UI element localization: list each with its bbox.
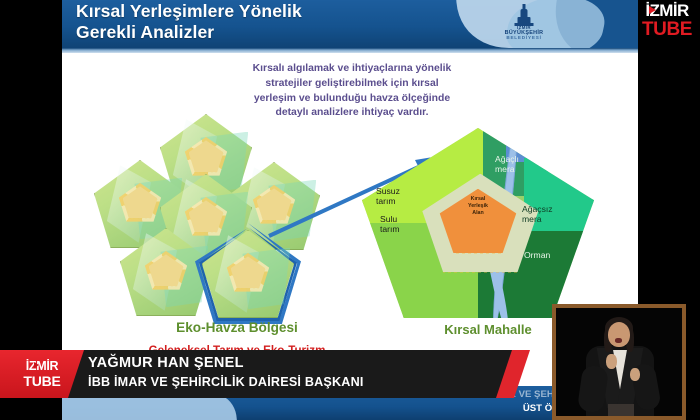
label-agacli-mera: Ağaçlı mera bbox=[495, 154, 519, 174]
izmirtube-tube-text: TUBE bbox=[638, 20, 696, 39]
slide-header: Kırsal Yerleşimlere Yönelik Gerekli Anal… bbox=[62, 0, 638, 48]
label-line2: tarım bbox=[380, 224, 400, 234]
lower-third-caption: YAĞMUR HAN ŞENEL İBB İMAR VE ŞEHİRCİLİK … bbox=[62, 350, 514, 398]
core-label-line3: Alan bbox=[440, 210, 517, 217]
izmirtube-izmir-text: İZMİR bbox=[638, 2, 696, 19]
intro-line1: Kırsalı algılamak ve ihtiyaçlarına yönel… bbox=[192, 62, 512, 77]
intro-line3: yerleşim ve bulunduğu havza ölçeğinde bbox=[192, 92, 512, 107]
speaker-role: İBB İMAR VE ŞEHİRCİLİK DAİRESİ BAŞKANI bbox=[88, 375, 364, 389]
speaker-name: YAĞMUR HAN ŞENEL bbox=[88, 355, 244, 371]
label-line1: Ağaçlı bbox=[495, 154, 519, 164]
logo-line-belediyesi: BELEDİYESİ bbox=[492, 36, 556, 41]
label-sulu-tarim: Sulu tarım bbox=[380, 214, 400, 234]
clock-tower-icon bbox=[492, 4, 556, 26]
speaker-picture-in-picture[interactable] bbox=[552, 304, 686, 420]
label-line2: tarım bbox=[376, 196, 400, 206]
core-label-line1: Kırsal bbox=[440, 196, 517, 203]
intro-paragraph: Kırsalı algılamak ve ihtiyaçlarına yönel… bbox=[192, 62, 512, 121]
label-line1: Orman bbox=[524, 250, 550, 260]
play-triangle-icon bbox=[649, 6, 656, 14]
label-line1: Susuz bbox=[376, 186, 400, 196]
cluster-pentagon bbox=[120, 228, 212, 316]
izmirtube-logo-topright[interactable]: İZMİR TUBE bbox=[638, 2, 696, 48]
core-label: Kırsal Yerleşik Alan bbox=[440, 196, 517, 216]
label-agacsiz-mera: Ağaçsız mera bbox=[522, 204, 553, 224]
label-line2: mera bbox=[495, 164, 519, 174]
speaker-hand-left bbox=[606, 354, 617, 369]
play-triangle-icon bbox=[34, 362, 39, 368]
core-label-line2: Yerleşik bbox=[440, 203, 517, 210]
label-susuz-tarim: Susuz tarım bbox=[376, 186, 400, 206]
izmir-buyuksehir-belediyesi-logo: İZMİR BÜYÜKŞEHİR BELEDİYESİ bbox=[492, 4, 556, 46]
speaker-mouth bbox=[615, 338, 622, 343]
speaker-belt bbox=[608, 404, 634, 418]
slide-title-line2: Gerekli Analizler bbox=[76, 22, 436, 43]
slide-title-line1: Kırsal Yerleşimlere Yönelik bbox=[76, 1, 436, 22]
cluster-pentagon-selected bbox=[202, 230, 294, 318]
speaker-hand-right bbox=[630, 368, 640, 381]
kirsal-mahalle-diagram: Kırsal Yerleşik Alan Susuz tarım Sulu ta… bbox=[362, 128, 594, 318]
label-line2: mera bbox=[522, 214, 553, 224]
intro-line2: stratejiler geliştirebilmek için kırsal bbox=[192, 77, 512, 92]
header-divider bbox=[62, 48, 638, 53]
slide-title: Kırsal Yerleşimlere Yönelik Gerekli Anal… bbox=[76, 1, 436, 42]
label-line1: Sulu bbox=[380, 214, 400, 224]
badge-izmir-text: İZMİR bbox=[26, 359, 59, 373]
speaker-head bbox=[608, 322, 630, 347]
video-player-stage: Kırsal Yerleşimlere Yönelik Gerekli Anal… bbox=[0, 0, 700, 420]
label-orman: Orman bbox=[524, 250, 550, 260]
badge-tube-text: TUBE bbox=[23, 373, 60, 389]
label-line1: Ağaçsız bbox=[522, 204, 553, 214]
caption-eko-havza: Eko-Havza Bölgesi bbox=[122, 320, 352, 335]
